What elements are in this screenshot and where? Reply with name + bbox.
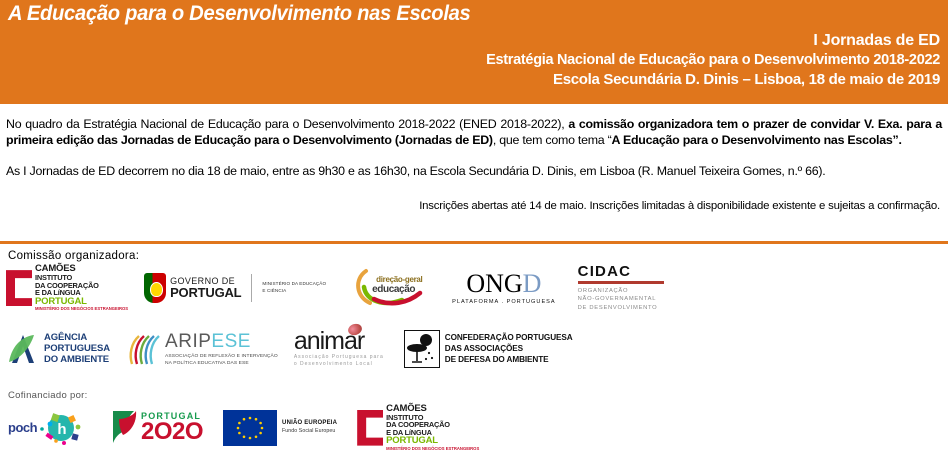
aripese-text: ARIPESE ASSOCIAÇÃO DE REFLEXÃO E INTERVE… [165,332,278,367]
eu-flag-icon [223,410,277,446]
aripese-wordmark: ARIPESE [165,332,278,351]
page-header: A Educação para o Desenvolvimento nas Es… [0,0,948,104]
cidac-subtitle: ORGANIZAÇÃO NÃO-GOVERNAMENTAL DE DESENVO… [578,287,658,312]
paragraph1-part-c: , que tem como tema “ [493,133,612,147]
camoes-text: CAMÕES INSTITUTO DA COOPERAÇÃO E DA LíNG… [35,264,128,311]
aripese-faces-icon [128,331,162,367]
camoes2-line5: PORTUGAL [386,436,479,446]
paragraph-invitation: No quadro da Estratégia Nacional de Educ… [6,104,942,148]
logo-portugal-2020: PORTUGAL 2O2O [110,409,203,447]
logo-poch: h poch [6,408,90,448]
logo-dge: direção-geral educação [350,267,432,309]
eu-line2: Fundo Social Europeu [282,428,337,436]
animar-sub1: Associação Portuguesa para [294,354,384,362]
organizer-logo-row-1: CAMÕES INSTITUTO DA COOPERAÇÃO E DA LíNG… [6,264,664,312]
orange-divider [0,241,948,244]
logo-governo-portugal: GOVERNO DE PORTUGAL MINISTÉRIO DA EDUCAÇ… [144,273,326,303]
aripese-sub2: NA POLÍTICA EDUCATIVA DAS ESE [165,360,278,367]
page-title: A Educação para o Desenvolvimento nas Es… [8,2,470,26]
camoes2-line6: MINISTÉRIO DOS NEGÓCIOS ESTRANGEIROS [386,447,479,451]
aripese-arip: ARIP [165,331,211,352]
logo-cidac: CIDAC ORGANIZAÇÃO NÃO-GOVERNAMENTAL DE D… [578,264,664,312]
paragraph1-part-e: ”. [893,133,902,147]
logo-confederacao: CONFEDERAÇÃO PORTUGUESA DAS ASSOCIAÇÕES … [404,330,573,368]
header-line-strategy: Estratégia Nacional de Educação para o D… [486,51,940,70]
camoes-line6: MINISTÉRIO DOS NEGÓCIOS ESTRANGEIROS [35,307,128,311]
cidac-bar [578,281,664,284]
poch-wordmark: poch [8,420,37,435]
confederacao-line3: DE DEFESA DO AMBIENTE [445,355,573,366]
svg-text:h: h [57,421,66,438]
apa-line3: DO AMBIENTE [44,355,110,366]
portugal2020-text: PORTUGAL 2O2O [141,412,203,444]
aripese-sub1: ASSOCIAÇÃO DE REFLEXÃO E INTERVENÇÃO [165,353,278,360]
governo-ministry: MINISTÉRIO DA EDUCAÇÃO E CIÊNCIA [262,281,326,295]
camoes-c-icon [6,270,32,306]
camoes-line5: PORTUGAL [35,297,128,307]
invitation-body: No quadro da Estratégia Nacional de Educ… [0,104,948,212]
apa-leaf-icon [6,332,40,366]
cofinanced-label: Cofinanciado por: [8,390,88,401]
ongd-wordmark: ONGD [466,271,541,297]
logo-camoes-secondary: CAMÕES INSTITUTO DA COOPERAÇÃO E DA LíNG… [357,404,479,451]
header-line-venue-date: Escola Secundária D. Dinis – Lisboa, 18 … [486,70,940,90]
organizer-logo-row-2: AGÊNCIA PORTUGUESA DO AMBIENTE ARIPESE A… [6,330,573,369]
confederacao-line1: CONFEDERAÇÃO PORTUGUESA [445,333,573,344]
paragraph1-part-d: A Educação para o Desenvolvimento nas Es… [612,133,893,147]
confederacao-bird-icon [404,330,440,368]
governo-text: GOVERNO DE PORTUGAL [170,277,241,299]
registration-note: Inscrições abertas até 14 de maio. Inscr… [8,180,940,212]
camoes-c-icon-secondary [357,410,383,446]
paragraph-logistics: As I Jornadas de ED decorrem no dia 18 d… [6,148,942,180]
eu-text: UNIÃO EUROPEIA Fundo Social Europeu [282,419,337,436]
header-subtitle-block: I Jornadas de ED Estratégia Nacional de … [486,30,940,90]
cidac-sub1: ORGANIZAÇÃO [578,287,658,295]
cidac-name: CIDAC [578,264,632,279]
portugal2020-flag-icon [110,409,138,447]
camoes-text-secondary: CAMÕES INSTITUTO DA COOPERAÇÃO E DA LíNG… [386,404,479,451]
logo-animar: animar Associação Portuguesa para o Dese… [294,330,384,369]
ministry-line2: E CIÊNCIA [262,288,326,295]
paragraph1-part-a: No quadro da Estratégia Nacional de Educ… [6,117,568,131]
portuguese-shield-icon [144,273,166,303]
portugal2020-line2: 2O2O [141,421,203,444]
logo-camoes: CAMÕES INSTITUTO DA COOPERAÇÃO E DA LíNG… [6,264,128,311]
cidac-sub2: NÃO-GOVERNAMENTAL [578,295,658,303]
dge-line2: educação [372,284,415,295]
logo-ongd: ONGD PLATAFORMA . PORTUGUESA [452,271,556,305]
ongd-ong: ONG [466,269,522,298]
header-line-event: I Jornadas de ED [486,30,940,51]
ongd-subtitle: PLATAFORMA . PORTUGUESA [452,299,556,305]
logo-european-union: UNIÃO EUROPEIA Fundo Social Europeu [223,410,337,446]
apa-text: AGÊNCIA PORTUGUESA DO AMBIENTE [44,333,110,365]
logo-apa: AGÊNCIA PORTUGUESA DO AMBIENTE [6,332,110,366]
dge-line1: direção-geral [376,275,422,284]
aripese-subtitle: ASSOCIAÇÃO DE REFLEXÃO E INTERVENÇÃO NA … [165,353,278,367]
governo-line2: PORTUGAL [170,286,241,299]
confederacao-text: CONFEDERAÇÃO PORTUGUESA DAS ASSOCIAÇÕES … [445,333,573,365]
ongd-d: D [523,269,542,298]
confederacao-line2: DAS ASSOCIAÇÕES [445,344,573,355]
governo-divider [251,274,252,302]
eu-line1: UNIÃO EUROPEIA [282,419,337,428]
aripese-ese: ESE [211,331,251,352]
organizers-label: Comissão organizadora: [8,250,139,262]
cidac-sub3: DE DESENVOLVIMENTO [578,304,658,312]
logo-aripese: ARIPESE ASSOCIAÇÃO DE REFLEXÃO E INTERVE… [128,331,278,367]
cofinanced-logo-row: h poch PORTUGAL 2O2O UNIÃO EU [6,404,479,451]
animar-sub2: o Desenvolvimento Local [294,361,373,369]
